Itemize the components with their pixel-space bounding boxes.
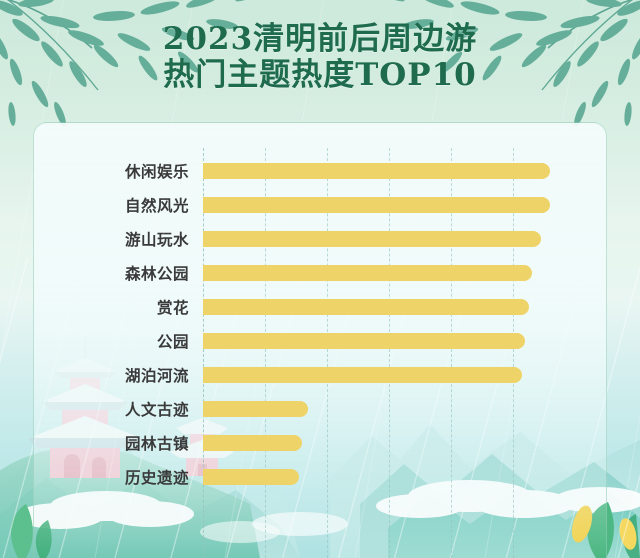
page-title: 2023清明前后周边游 热门主题热度TOP10: [0, 22, 640, 94]
title-line-2: 热门主题热度TOP10: [0, 58, 640, 94]
bar: [203, 401, 308, 417]
chart-row: 历史遗迹: [33, 466, 607, 488]
bar-category-label: 森林公园: [33, 262, 189, 284]
title-line-1: 2023清明前后周边游: [0, 22, 640, 58]
bar-chart: 休闲娱乐自然风光游山玩水森林公园赏花公园湖泊河流人文古迹园林古镇历史遗迹: [33, 122, 607, 558]
bar: [203, 367, 522, 383]
chart-row: 森林公园: [33, 262, 607, 284]
infographic-canvas: 2023清明前后周边游 热门主题热度TOP10 休闲娱乐自然风光游山玩水森林公园…: [0, 0, 640, 558]
chart-row: 人文古迹: [33, 398, 607, 420]
chart-row: 游山玩水: [33, 228, 607, 250]
bar: [203, 435, 302, 451]
chart-row: 赏花: [33, 296, 607, 318]
bar: [203, 469, 299, 485]
bar: [203, 197, 550, 213]
bar: [203, 231, 541, 247]
bar: [203, 299, 529, 315]
bar-category-label: 赏花: [33, 296, 189, 318]
bar: [203, 163, 550, 179]
chart-row: 公园: [33, 330, 607, 352]
chart-row: 湖泊河流: [33, 364, 607, 386]
bar-category-label: 湖泊河流: [33, 364, 189, 386]
chart-row: 自然风光: [33, 194, 607, 216]
bar-category-label: 人文古迹: [33, 398, 189, 420]
chart-row: 园林古镇: [33, 432, 607, 454]
bar-category-label: 游山玩水: [33, 228, 189, 250]
bar-category-label: 历史遗迹: [33, 466, 189, 488]
bar: [203, 333, 525, 349]
bar-category-label: 休闲娱乐: [33, 160, 189, 182]
bar: [203, 265, 532, 281]
chart-rows: 休闲娱乐自然风光游山玩水森林公园赏花公园湖泊河流人文古迹园林古镇历史遗迹: [33, 122, 607, 558]
bar-category-label: 自然风光: [33, 194, 189, 216]
bar-category-label: 园林古镇: [33, 432, 189, 454]
chart-row: 休闲娱乐: [33, 160, 607, 182]
bar-category-label: 公园: [33, 330, 189, 352]
